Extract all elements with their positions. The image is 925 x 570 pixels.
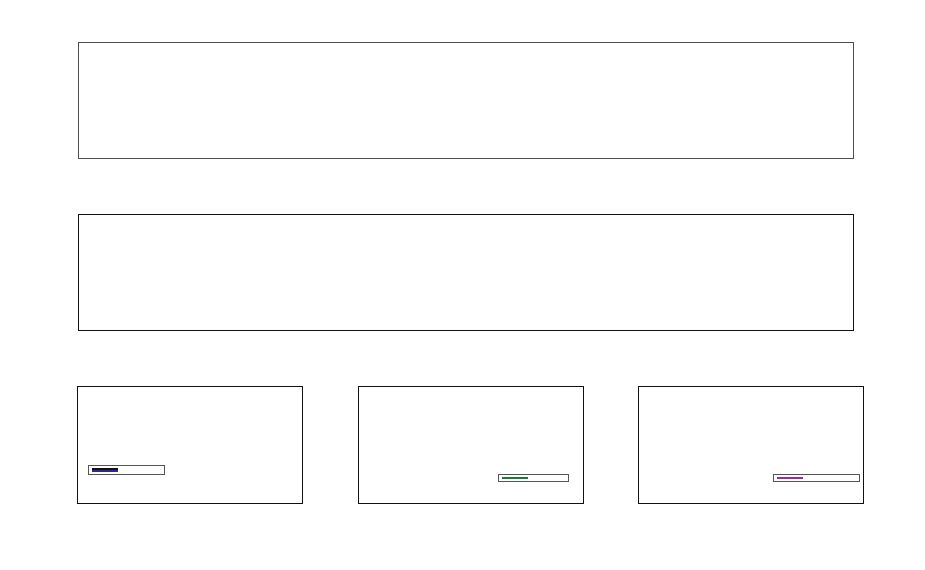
panel-a-plot-frame — [78, 42, 854, 159]
panel-d-plot-frame — [638, 386, 864, 504]
panel-d-legend-item-nanp — [777, 477, 855, 479]
legend-line-icon-na — [502, 477, 528, 479]
panel-d-legend — [773, 474, 860, 482]
panel-g-legend — [498, 474, 569, 482]
panel-g-legend-item-na — [502, 477, 564, 479]
panel-b-curves — [79, 215, 852, 329]
legend-line-icon-nanp — [777, 477, 803, 479]
panel-g-curves — [359, 387, 582, 502]
panel-b-plot-frame — [78, 214, 854, 331]
panel-v-plot-frame — [77, 386, 303, 504]
panel-v-curves — [78, 387, 301, 502]
legend-line-icon-np — [92, 470, 118, 472]
panel-v-legend — [88, 465, 165, 475]
panel-v-legend-item-np — [92, 470, 160, 472]
panel-v-annotation-row-2 — [104, 409, 109, 432]
panel-d-curves — [639, 387, 862, 502]
panel-g-plot-frame — [358, 386, 584, 504]
figure-root — [0, 0, 925, 570]
panel-a-curves — [79, 43, 852, 157]
